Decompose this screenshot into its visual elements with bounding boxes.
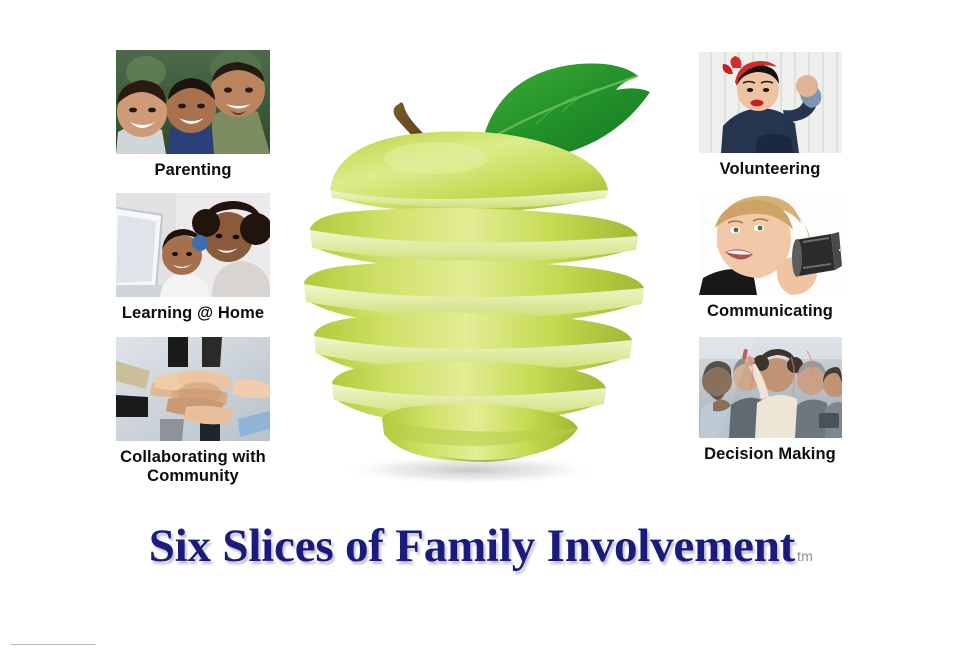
category-label: Learning @ Home: [78, 304, 308, 323]
team-at-glass-whiteboard-photo: [699, 337, 842, 438]
apple-slice-6: [382, 404, 578, 462]
category-item-volunteering[interactable]: Volunteering: [655, 52, 885, 179]
trademark-mark: tm: [797, 548, 813, 564]
category-label: Parenting: [78, 161, 308, 180]
category-item-communicating[interactable]: Communicating: [655, 194, 885, 321]
category-label: Volunteering: [655, 160, 885, 179]
slide-title: Six Slices of Family Involvementtm: [0, 519, 962, 573]
tin-can-telephone-photo: [699, 194, 842, 295]
category-item-decision-making[interactable]: Decision Making: [655, 337, 885, 464]
bottom-divider-line: [11, 644, 95, 645]
slide-canvas: Parenting: [0, 0, 962, 656]
title-text: Six Slices of Family Involvement: [149, 520, 795, 572]
apple-slice-2: [310, 208, 638, 268]
sliced-green-apple-graphic: [286, 38, 676, 508]
category-label: Collaborating with Community: [78, 448, 308, 487]
category-item-collaborating-with-community[interactable]: Collaborating with Community: [78, 337, 308, 487]
family-portrait-photo: [116, 50, 270, 154]
rosie-the-riveter-pose-photo: [699, 52, 842, 153]
category-item-parenting[interactable]: Parenting: [78, 50, 308, 180]
category-item-learning-at-home[interactable]: Learning @ Home: [78, 193, 308, 323]
category-label: Communicating: [655, 302, 885, 321]
mother-and-daughter-at-computer-photo: [116, 193, 270, 297]
category-label: Decision Making: [655, 445, 885, 464]
stacked-hands-teamwork-photo: [116, 337, 270, 441]
